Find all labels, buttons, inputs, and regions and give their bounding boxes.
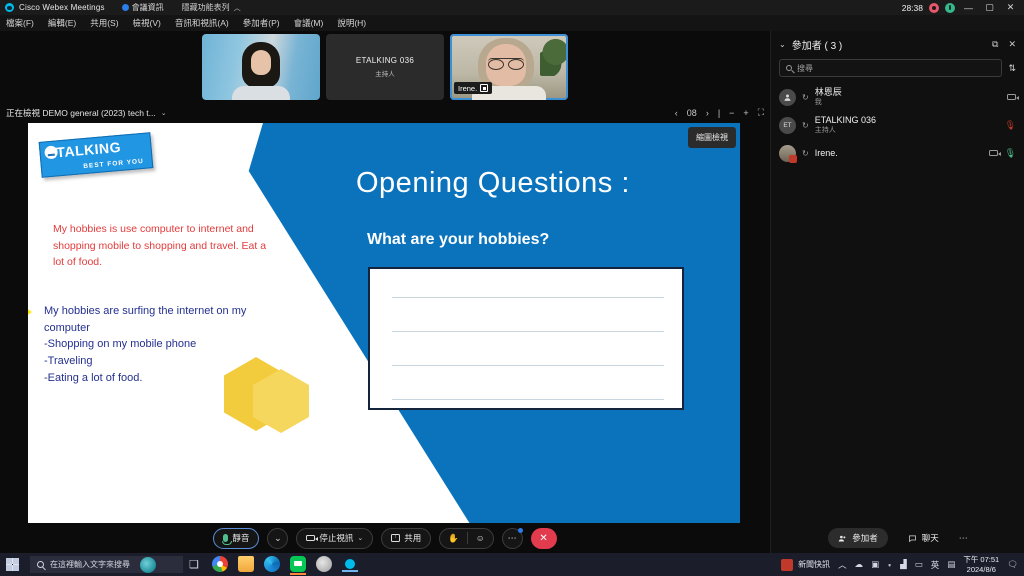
start-button-icon[interactable] <box>6 558 19 571</box>
video-tile-name-badge: Irene. <box>454 82 492 94</box>
webex-taskbar-icon[interactable] <box>342 556 358 572</box>
participant-list: ↻ 林恩辰 我 ET ↻ ETALKING 036 主持人 🎙 <box>771 83 1024 167</box>
participants-tab-label: 參加者 <box>852 532 878 544</box>
video-filmstrip: ETALKING 036 主持人 Irene. <box>0 31 770 103</box>
menu-item-meeting[interactable]: 會議(M) <box>294 17 324 29</box>
microphone-icon <box>223 534 228 542</box>
clock-time: 下午 07:51 <box>963 555 999 565</box>
slide-canvas[interactable]: ETALKING BEST FOR YOU My hobbies is use … <box>28 123 740 523</box>
security-icon[interactable]: ▣ <box>871 559 879 570</box>
menu-item-audio-video[interactable]: 音訊和視訊(A) <box>175 17 229 29</box>
avatar <box>779 89 796 106</box>
onedrive-icon[interactable]: ☁ <box>855 559 864 570</box>
video-tile-irene[interactable]: Irene. <box>450 34 568 100</box>
file-explorer-icon[interactable] <box>238 556 254 572</box>
system-tray: 新聞快訊 ︿ ☁ ▣ ᛭ ▟ ▭ 英 ▤ 下午 07:51 2024/8/6 🗨 <box>781 553 1024 576</box>
raise-hand-button[interactable]: ✋ <box>440 533 467 544</box>
raise-hand-icon: ↻ <box>802 121 809 130</box>
end-meeting-button[interactable]: ✕ <box>531 528 557 549</box>
thumbnail-view-button[interactable]: 縮圖檢視 <box>688 127 736 148</box>
video-tile-host[interactable]: ETALKING 036 主持人 <box>326 34 444 100</box>
menu-item-share[interactable]: 共用(S) <box>90 17 118 29</box>
meeting-info-label: 會議資訊 <box>132 2 164 13</box>
search-icon <box>37 561 44 568</box>
mute-options-button[interactable]: ⌄ <box>267 528 288 549</box>
chevron-down-icon[interactable]: ⌄ <box>161 109 167 117</box>
answer-writing-box <box>368 267 684 410</box>
viewing-file-label: 正在檢視 DEMO general (2023) tech t... <box>6 107 156 119</box>
menu-item-participant[interactable]: 參加者(P) <box>243 17 280 29</box>
news-label: 新聞快訊 <box>798 559 830 570</box>
news-icon <box>781 559 793 571</box>
meeting-control-bar: 靜音 ⌄ 停止視訊 ⌄ 共用 ✋ ☺ ⋯ ✕ <box>0 523 770 553</box>
chat-tab-label: 聊天 <box>922 532 939 544</box>
hide-menubar-button[interactable]: 隱藏功能表列 <box>182 2 230 13</box>
fit-screen-button[interactable]: ⛶ <box>758 107 764 118</box>
divider: | <box>718 108 720 118</box>
previous-page-button[interactable]: ‹ <box>675 108 678 118</box>
page-number: 08 <box>687 108 697 118</box>
share-screen-icon <box>391 534 400 542</box>
connection-icon[interactable] <box>945 3 955 13</box>
panel-bottom-bar: 參加者 聊天 ⋯ <box>771 523 1024 553</box>
mute-button[interactable]: 靜音 <box>213 528 259 549</box>
panel-header: ⌄ 參加者 ( 3 ) ⧉ ✕ <box>771 31 1024 57</box>
taskbar-clock[interactable]: 下午 07:51 2024/8/6 <box>963 555 999 574</box>
panel-more-button[interactable]: ⋯ <box>959 533 968 544</box>
network-icon[interactable]: ▟ <box>900 559 907 570</box>
participants-tab-button[interactable]: 參加者 <box>828 528 888 548</box>
pointer-arrow-icon <box>28 306 32 318</box>
active-indicator <box>342 570 358 572</box>
video-off-icon[interactable] <box>1007 94 1016 101</box>
pin-video-icon[interactable] <box>480 84 488 92</box>
info-dot-icon <box>122 4 129 11</box>
participants-panel: ⌄ 參加者 ( 3 ) ⧉ ✕ 搜尋 ⇅ ↻ 林恩辰 我 <box>770 31 1024 553</box>
zoom-in-button[interactable]: + <box>743 108 748 118</box>
notification-badge <box>518 528 523 533</box>
video-tile-irene-name: Irene. <box>458 84 477 93</box>
task-view-icon[interactable]: ❑ <box>186 556 202 572</box>
taskbar-search-input[interactable]: 在這裡輸入文字來搜尋 <box>30 556 183 573</box>
participant-name-group: Irene. <box>815 148 838 159</box>
participant-role: 主持人 <box>815 126 876 135</box>
rule-line <box>392 399 664 400</box>
rule-line <box>392 365 664 366</box>
participant-status <box>1007 94 1016 101</box>
search-icon <box>786 65 792 71</box>
close-button[interactable]: ✕ <box>1003 2 1018 13</box>
mic-on-icon[interactable]: 🎙 <box>1005 148 1016 159</box>
chat-bubble-icon <box>908 534 917 543</box>
close-panel-icon[interactable]: ✕ <box>1008 39 1016 50</box>
raise-hand-icon: ↻ <box>802 149 809 158</box>
edge-icon[interactable] <box>264 556 280 572</box>
participant-name: 林恩辰 <box>815 87 842 98</box>
menu-item-view[interactable]: 檢視(V) <box>133 17 161 29</box>
mute-label: 靜音 <box>232 532 249 544</box>
panel-title: 參加者 ( 3 ) <box>792 37 843 52</box>
mic-muted-icon[interactable]: 🎙 <box>1005 120 1016 131</box>
next-page-button[interactable]: › <box>706 108 709 118</box>
chrome-icon[interactable] <box>212 556 228 572</box>
title-bar: Cisco Webex Meetings 會議資訊 隱藏功能表列 ︿ 28:38… <box>0 0 1024 15</box>
avatar: ET <box>779 117 796 134</box>
ime-language-icon[interactable]: 英 <box>931 559 940 571</box>
app-title: Cisco Webex Meetings <box>19 3 105 12</box>
sort-participants-button[interactable]: ⇅ <box>1008 63 1016 74</box>
stop-video-button[interactable]: 停止視訊 ⌄ <box>296 528 373 549</box>
participant-row[interactable]: ET ↻ ETALKING 036 主持人 🎙 <box>771 111 1024 139</box>
chevron-down-icon: ⌄ <box>357 534 363 542</box>
video-tile-self[interactable] <box>202 34 320 100</box>
menu-item-file[interactable]: 檔案(F) <box>6 17 34 29</box>
tray-expand-icon[interactable]: ︿ <box>838 559 847 571</box>
notification-center-icon[interactable]: 🗨 <box>1007 559 1018 570</box>
line-icon[interactable] <box>290 556 306 572</box>
chevron-up-icon[interactable]: ︿ <box>234 3 241 13</box>
avatar-face <box>251 50 271 75</box>
student-answer-red: My hobbies is use computer to internet a… <box>53 221 268 271</box>
menu-item-help[interactable]: 說明(H) <box>337 17 366 29</box>
video-tile-host-name: ETALKING 036 <box>356 56 414 65</box>
search-placeholder: 搜尋 <box>797 63 813 74</box>
taskbar-app-icons: ❑ <box>186 556 358 572</box>
popout-panel-icon[interactable]: ⧉ <box>992 39 998 50</box>
participant-search-row: 搜尋 ⇅ <box>771 59 1024 77</box>
pinned-app-icon[interactable] <box>316 556 332 572</box>
presentation-controls: ‹ 08 › | − + ⛶ <box>675 103 764 122</box>
avatar-body <box>232 86 290 100</box>
chevron-down-icon[interactable]: ⌄ <box>779 40 786 49</box>
video-tile-host-role: 主持人 <box>375 68 395 78</box>
raise-hand-icon: ↻ <box>802 93 809 102</box>
background-plant <box>540 36 566 76</box>
etalking-logo-tagline: BEST FOR YOU <box>83 158 144 170</box>
chat-tab-button[interactable]: 聊天 <box>898 528 949 548</box>
glasses-icon <box>488 58 524 67</box>
record-icon[interactable] <box>929 3 939 13</box>
news-widget[interactable]: 新聞快訊 <box>781 559 830 571</box>
emoji-reaction-button[interactable]: ☺ <box>468 533 493 543</box>
meeting-timer: 28:38 <box>902 3 923 13</box>
camera-off-badge-icon <box>789 155 797 163</box>
more-options-button[interactable]: ⋯ <box>502 528 523 549</box>
zoom-out-button[interactable]: − <box>729 108 734 118</box>
minimize-button[interactable]: — <box>961 3 976 13</box>
participant-status: 🎙 <box>989 148 1016 159</box>
clock-date: 2024/8/6 <box>963 565 999 575</box>
share-label: 共用 <box>404 532 421 544</box>
participant-name: ETALKING 036 <box>815 115 876 126</box>
active-indicator <box>290 573 306 575</box>
menu-bar: 檔案(F) 編輯(E) 共用(S) 檢視(V) 音訊和視訊(A) 參加者(P) … <box>0 15 1024 31</box>
chevron-down-icon: ⌄ <box>274 533 282 544</box>
participant-role: 我 <box>815 98 842 107</box>
participant-row[interactable]: ↻ 林恩辰 我 <box>771 83 1024 111</box>
ime-mode-icon[interactable]: ▤ <box>947 559 955 570</box>
close-icon: ✕ <box>539 533 547 544</box>
window-controls: 28:38 — ▢ ✕ <box>902 0 1024 15</box>
webex-logo-icon <box>5 3 14 12</box>
volume-icon[interactable]: ▭ <box>915 559 923 570</box>
rule-line <box>392 297 664 298</box>
irene-pointer-annotation: Irene. <box>28 306 34 319</box>
stop-video-label: 停止視訊 <box>319 532 353 544</box>
slide-title: Opening Questions : <box>356 167 630 200</box>
participant-status: 🎙 <box>1005 120 1016 131</box>
presentation-header: 正在檢視 DEMO general (2023) tech t... ⌄ ‹ 0… <box>0 103 770 122</box>
participant-name: Irene. <box>815 148 838 159</box>
maximize-button[interactable]: ▢ <box>982 2 997 13</box>
panel-header-actions: ⧉ ✕ <box>992 39 1016 50</box>
camera-icon <box>306 535 315 541</box>
share-button[interactable]: 共用 <box>381 528 431 549</box>
video-off-icon[interactable] <box>989 150 998 157</box>
more-icon: ⋯ <box>508 533 517 544</box>
slide-subtitle: What are your hobbies? <box>367 231 549 249</box>
avatar <box>779 145 796 162</box>
people-icon <box>838 534 847 543</box>
cortana-icon[interactable] <box>140 557 156 573</box>
search-input[interactable]: 搜尋 <box>779 59 1002 77</box>
participant-name-group: 林恩辰 我 <box>815 87 842 107</box>
participant-row[interactable]: ↻ Irene. 🎙 <box>771 139 1024 167</box>
participant-name-group: ETALKING 036 主持人 <box>815 115 876 135</box>
taskbar-search-placeholder: 在這裡輸入文字來搜尋 <box>50 559 130 570</box>
rule-line <box>392 331 664 332</box>
menu-item-edit[interactable]: 編輯(E) <box>48 17 76 29</box>
bluetooth-icon[interactable]: ᛭ <box>887 560 892 570</box>
webex-meeting-window: Cisco Webex Meetings 會議資訊 隱藏功能表列 ︿ 28:38… <box>0 0 1024 576</box>
etalking-logo: ETALKING BEST FOR YOU <box>39 132 154 178</box>
windows-taskbar: 在這裡輸入文字來搜尋 ❑ 新聞快訊 ︿ ☁ ▣ ᛭ ▟ <box>0 553 1024 576</box>
reactions-group: ✋ ☺ <box>439 528 493 549</box>
meeting-info-button[interactable]: 會議資訊 <box>122 2 164 13</box>
